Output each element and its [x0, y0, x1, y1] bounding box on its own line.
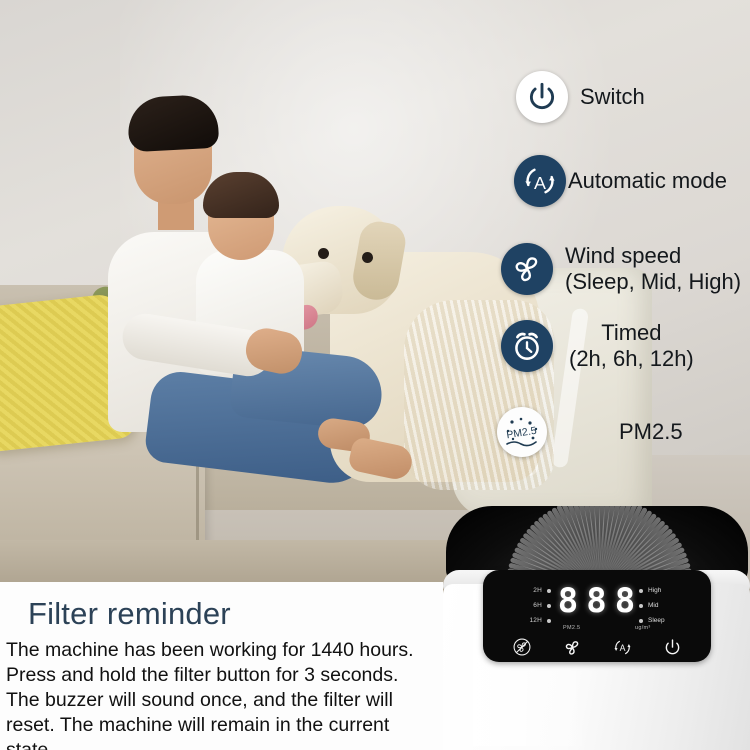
svg-text:A: A: [534, 173, 546, 193]
feature-label: Wind speed (Sleep, Mid, High): [565, 243, 741, 295]
timer-label: 2H: [533, 587, 542, 594]
feature-label: Switch: [580, 84, 645, 110]
feature-label-main: Wind speed: [565, 243, 681, 268]
mode-indicator-mid[interactable]: Mid: [639, 598, 701, 613]
feature-label: Timed (2h, 6h, 12h): [569, 320, 694, 372]
dog-eye: [318, 248, 329, 259]
filter-reminder-body: The machine has been working for 1440 ho…: [6, 638, 433, 750]
mode-led: [639, 589, 643, 593]
display-digit: 8: [558, 584, 579, 618]
feature-pm25: PM2.5 PM2.5: [497, 407, 683, 457]
display-digit: 8: [615, 584, 636, 618]
timer-indicator-6h[interactable]: 6H: [495, 598, 551, 613]
mode-led: [639, 604, 643, 608]
svg-text:A: A: [619, 643, 625, 653]
timer-indicator-2h[interactable]: 2H: [495, 583, 551, 598]
timer-clock-icon: [501, 320, 553, 372]
feature-switch: Switch: [516, 71, 645, 123]
mode-led: [639, 619, 643, 623]
feature-label: Automatic mode: [568, 168, 727, 194]
display-unit-left: PM2.5: [563, 625, 580, 631]
timer-indicator-group: 2H 6H 12H: [495, 583, 551, 628]
mode-label: Sleep: [648, 617, 665, 624]
feature-label-sub: (Sleep, Mid, High): [565, 269, 741, 295]
feature-label-main: Timed: [601, 320, 661, 345]
filter-reset-button[interactable]: [511, 636, 533, 658]
timer-label: 6H: [533, 602, 542, 609]
timer-label: 12H: [529, 617, 542, 624]
power-switch-icon: [516, 71, 568, 123]
product-infographic: Switch A Automatic mode: [0, 0, 750, 750]
dog-eye: [362, 252, 373, 263]
feature-wind-speed: Wind speed (Sleep, Mid, High): [501, 243, 741, 295]
fan-mode-indicator-group: High Mid Sleep: [639, 583, 701, 628]
timer-led: [547, 619, 551, 623]
mode-indicator-high[interactable]: High: [639, 583, 701, 598]
feature-label: PM2.5: [619, 419, 683, 445]
feature-label-sub: (2h, 6h, 12h): [569, 346, 694, 372]
mode-label: Mid: [648, 602, 658, 609]
timer-led: [547, 604, 551, 608]
filter-reminder-panel: Filter reminder The machine has been wor…: [0, 582, 443, 750]
fan-speed-button[interactable]: [561, 636, 583, 658]
air-purifier: 2H 6H 12H 8 8 8 PM2.5 ug/m³: [443, 498, 750, 750]
page-title: Filter reminder: [28, 596, 443, 632]
auto-mode-icon: A: [514, 155, 566, 207]
control-panel[interactable]: 2H 6H 12H 8 8 8 PM2.5 ug/m³: [483, 570, 711, 662]
feature-timed: Timed (2h, 6h, 12h): [501, 320, 694, 372]
fan-wind-speed-icon: [501, 243, 553, 295]
pm25-icon: PM2.5: [497, 407, 547, 457]
display-digit: 8: [586, 584, 607, 618]
auto-mode-button[interactable]: A: [611, 636, 633, 658]
feature-auto-mode: A Automatic mode: [514, 155, 727, 207]
power-button[interactable]: [661, 636, 683, 658]
mode-indicator-sleep[interactable]: Sleep: [639, 613, 701, 628]
pm25-display: 8 8 8: [555, 579, 639, 623]
control-button-row: A: [483, 632, 711, 662]
mode-label: High: [648, 587, 661, 594]
timer-indicator-12h[interactable]: 12H: [495, 613, 551, 628]
timer-led: [547, 589, 551, 593]
